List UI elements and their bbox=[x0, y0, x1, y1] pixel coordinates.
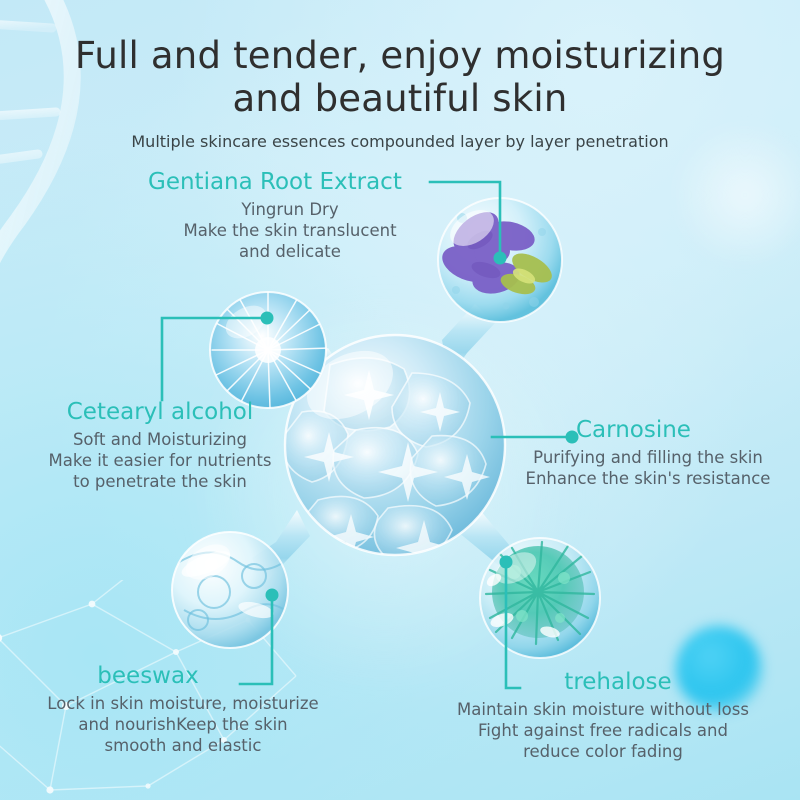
ingredient-desc-trehalose: Maintain skin moisture without loss Figh… bbox=[418, 699, 788, 762]
ingredient-gentiana: Gentiana Root Extract Yingrun Dry Make t… bbox=[120, 168, 460, 262]
desc-line: Make the skin translucent bbox=[120, 220, 460, 241]
ingredient-desc-beeswax: Lock in skin moisture, moisturize and no… bbox=[18, 693, 348, 756]
ingredient-desc-carnosine: Purifying and filling the skin Enhance t… bbox=[498, 447, 798, 489]
ingredient-name-trehalose: trehalose bbox=[418, 668, 788, 696]
desc-line: Maintain skin moisture without loss bbox=[418, 699, 788, 720]
ingredient-name-cetearyl: Cetearyl alcohol bbox=[10, 398, 310, 426]
desc-line: to penetrate the skin bbox=[10, 471, 310, 492]
desc-line: and delicate bbox=[120, 241, 460, 262]
desc-line: and nourishKeep the skin bbox=[18, 714, 348, 735]
ingredient-name-carnosine: Carnosine bbox=[498, 416, 798, 444]
ingredient-cetearyl-alcohol: Cetearyl alcohol Soft and Moisturizing M… bbox=[10, 398, 310, 492]
ingredient-name-beeswax: beeswax bbox=[18, 662, 348, 690]
desc-line: reduce color fading bbox=[418, 741, 788, 762]
desc-line: Lock in skin moisture, moisturize bbox=[18, 693, 348, 714]
desc-line: Fight against free radicals and bbox=[418, 720, 788, 741]
desc-line: Make it easier for nutrients bbox=[10, 450, 310, 471]
ingredient-name-gentiana: Gentiana Root Extract bbox=[120, 168, 460, 196]
desc-line: Enhance the skin's resistance bbox=[498, 468, 798, 489]
desc-line: Yingrun Dry bbox=[120, 199, 460, 220]
desc-line: Purifying and filling the skin bbox=[498, 447, 798, 468]
ingredient-beeswax: beeswax Lock in skin moisture, moisturiz… bbox=[18, 662, 348, 756]
ingredient-trehalose: trehalose Maintain skin moisture without… bbox=[418, 668, 788, 762]
infographic-poster: Full and tender, enjoy moisturizing and … bbox=[0, 0, 800, 800]
connector-cetearyl bbox=[162, 318, 265, 400]
ingredient-desc-gentiana: Yingrun Dry Make the skin translucent an… bbox=[120, 199, 460, 262]
desc-line: Soft and Moisturizing bbox=[10, 429, 310, 450]
desc-line: smooth and elastic bbox=[18, 735, 348, 756]
ingredient-carnosine: Carnosine Purifying and filling the skin… bbox=[498, 416, 798, 489]
ingredient-desc-cetearyl: Soft and Moisturizing Make it easier for… bbox=[10, 429, 310, 492]
